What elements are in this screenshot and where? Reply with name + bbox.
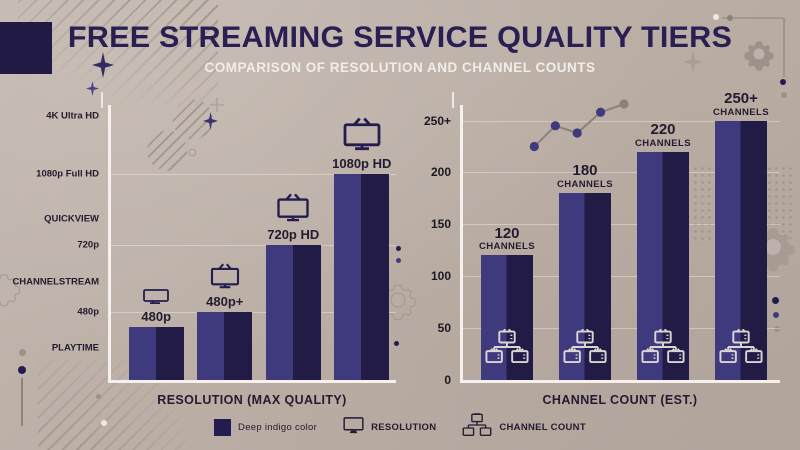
legend-item-resolution[interactable]: RESOLUTION [343, 417, 436, 439]
y-tick-label: 150 [431, 217, 451, 231]
trend-point[interactable] [596, 108, 605, 117]
resolution-plot-area: 4K Ultra HD1080p Full HDQUICKVIEW720pCHA… [108, 105, 396, 383]
infographic-canvas: FREE STREAMING SERVICE QUALITY TIERS COM… [0, 0, 800, 450]
trend-line [534, 104, 624, 147]
x-axis-line-left [108, 380, 396, 383]
channel-count-plot-area: 050100150200250+ 120CHANNELS180CHANNELS2… [460, 105, 780, 383]
y-tick-label: PLAYTIME [52, 343, 99, 354]
page-subtitle: COMPARISON OF RESOLUTION AND CHANNEL COU… [0, 60, 800, 75]
x-axis-title-left: RESOLUTION (MAX QUALITY) [108, 393, 396, 407]
bar-label: 720p HD [267, 227, 319, 242]
tv-icon [209, 263, 241, 294]
trend-point[interactable] [530, 142, 539, 151]
trend-point[interactable] [619, 99, 628, 108]
dot-gray-right [781, 92, 787, 98]
trend-line-overlay [460, 105, 780, 383]
trend-point[interactable] [551, 121, 560, 130]
y-tick-label: QUICKVIEW [44, 213, 99, 224]
bar-resolution-480p-[interactable]: 480p+ [197, 312, 252, 380]
bar-resolution-1080p-hd[interactable]: 1080p HD [334, 174, 389, 380]
resolution-chart-panel: 4K Ultra HD1080p Full HDQUICKVIEW720pCHA… [10, 100, 410, 400]
legend-item-indigo[interactable]: Deep indigo color [214, 419, 317, 436]
y-tick-label: 480p [77, 307, 99, 318]
tv-icon [142, 288, 170, 309]
bar-resolution-480p[interactable]: 480p [129, 327, 184, 380]
legend-label-resolution: RESOLUTION [371, 422, 436, 433]
bar-resolution-720p-hd[interactable]: 720p HD [266, 245, 321, 380]
y-tick-label: 4K Ultra HD [46, 110, 99, 121]
trend-point[interactable] [573, 128, 582, 137]
y-tick-label: 1080p Full HD [36, 168, 99, 179]
legend-label-indigo: Deep indigo color [238, 422, 317, 433]
y-axis-line-left [108, 105, 111, 383]
page-title: FREE STREAMING SERVICE QUALITY TIERS [0, 22, 800, 53]
y-tick-label: CHANNELSTREAM [12, 277, 99, 288]
tv-icon [275, 193, 311, 227]
y-tick-label: 200 [431, 165, 451, 179]
bar-label: 480p+ [206, 294, 243, 309]
dot-navy-right [780, 79, 786, 85]
four-point-star-small [86, 81, 99, 96]
tv-network-icon [462, 413, 492, 442]
dot-light-top [713, 14, 719, 20]
channel-count-chart-panel: 050100150200250+ 120CHANNELS180CHANNELS2… [415, 100, 790, 400]
bar-label: 1080p HD [332, 156, 391, 171]
swatch-icon [214, 419, 231, 436]
tv-icon [341, 117, 383, 156]
y-tick-label: 250+ [424, 114, 451, 128]
header: FREE STREAMING SERVICE QUALITY TIERS COM… [0, 22, 800, 75]
monitor-icon [343, 417, 364, 439]
y-tick-label: 720p [77, 240, 99, 251]
y-tick-label: 50 [438, 321, 451, 335]
x-axis-title-right: CHANNEL COUNT (EST.) [460, 393, 780, 407]
y-tick-label: 0 [444, 373, 451, 387]
bar-label: 480p [141, 309, 171, 324]
legend-label-channel-count: CHANNEL COUNT [499, 422, 586, 433]
y-tick-label: 100 [431, 269, 451, 283]
legend: Deep indigo color RESOLUTION [0, 413, 800, 442]
legend-item-channel-count[interactable]: CHANNEL COUNT [462, 413, 586, 442]
